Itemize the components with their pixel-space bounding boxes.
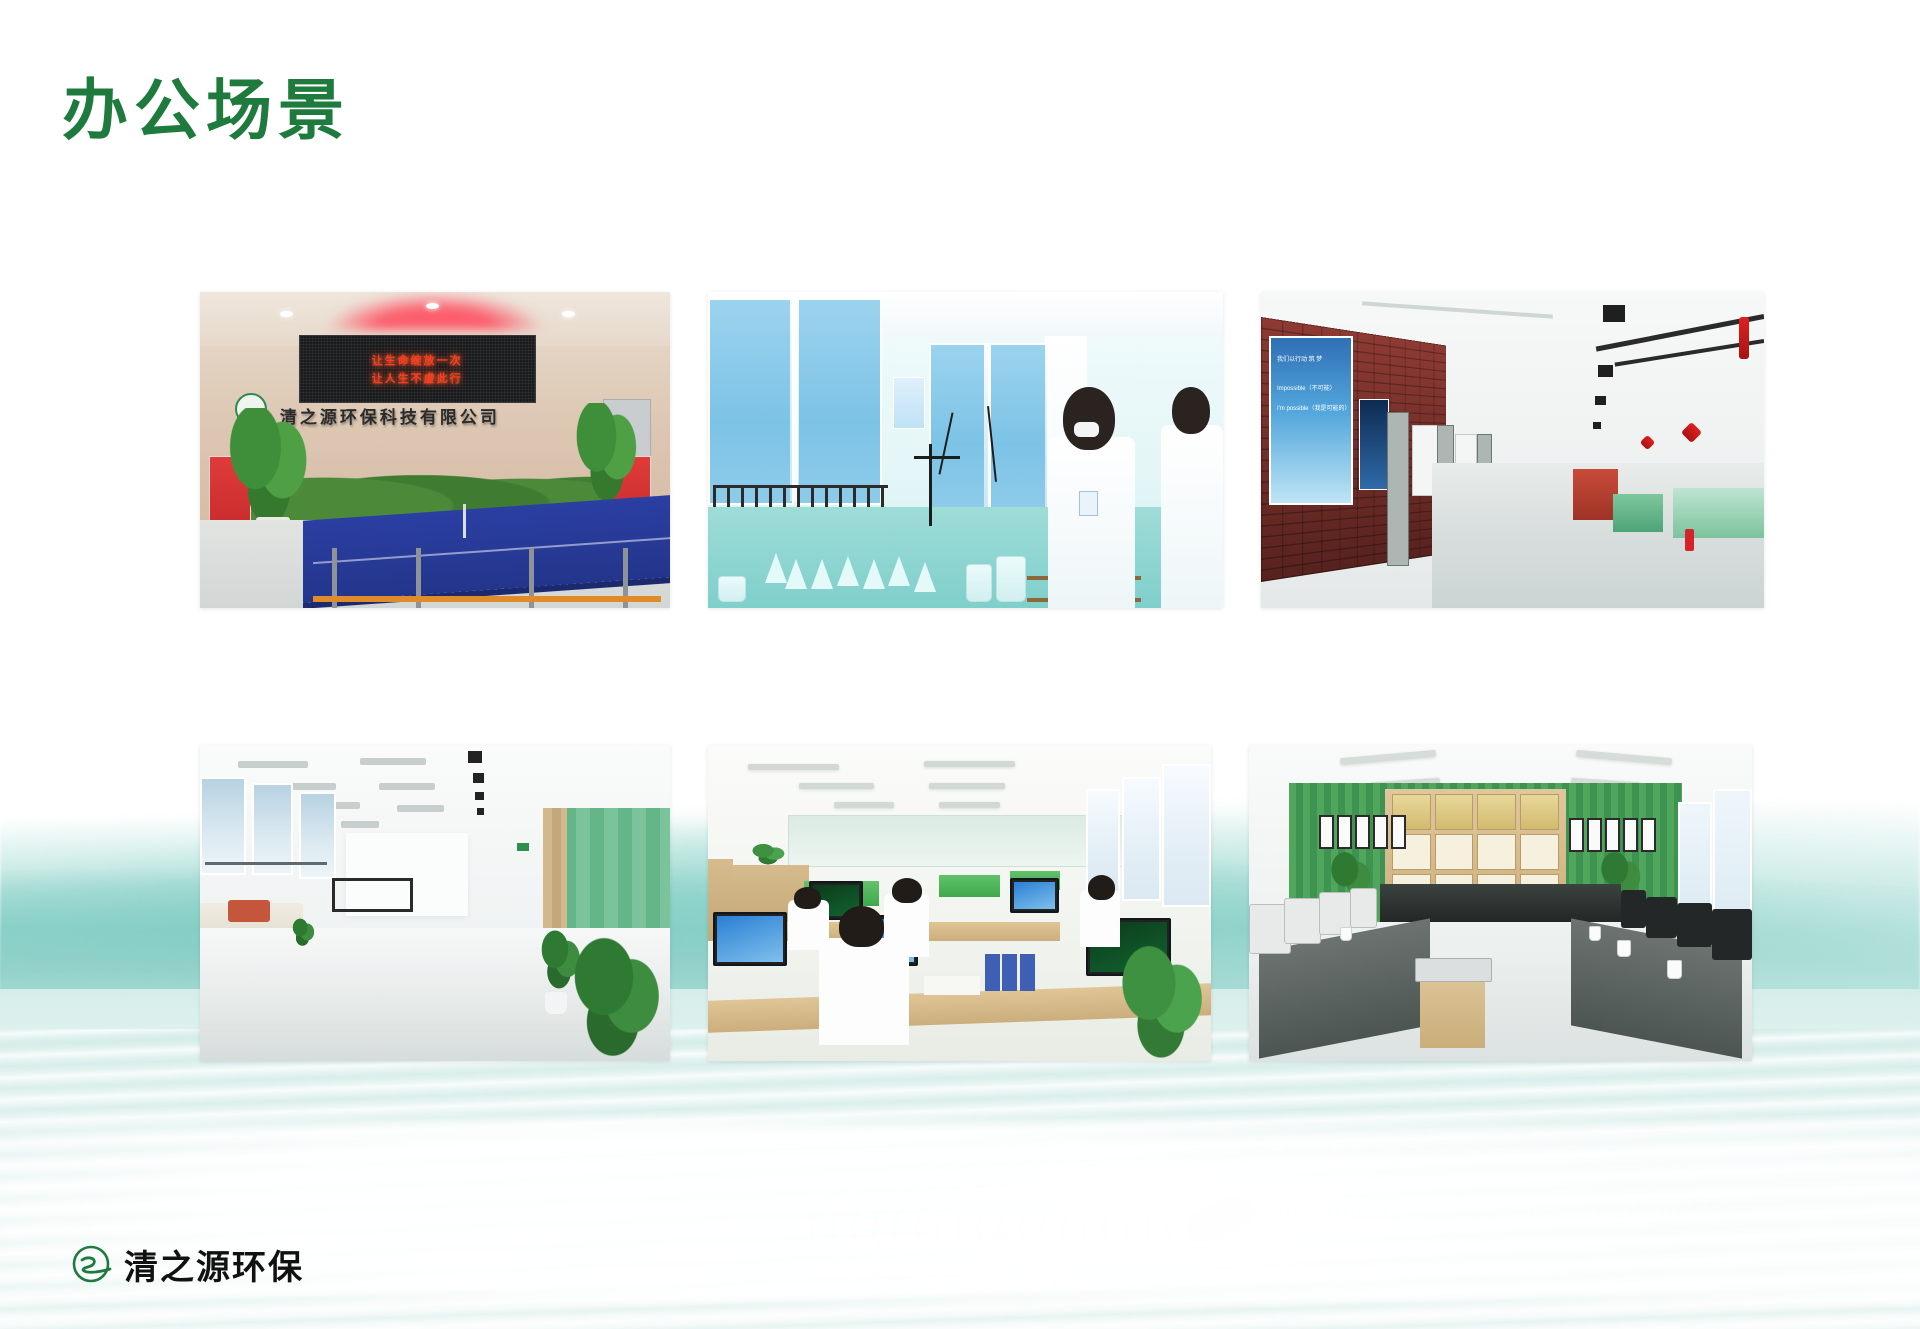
lab-notice-poster — [893, 377, 925, 429]
end-door — [1573, 469, 1618, 520]
ceiling-tube-light — [799, 783, 874, 789]
award-plaque — [1520, 794, 1559, 830]
ceiling-light-strip — [360, 758, 426, 765]
ceiling-light-strip — [379, 783, 435, 790]
conference-table-back — [1380, 884, 1621, 922]
conference-chair — [1712, 909, 1752, 960]
sofa-cushion — [228, 900, 270, 922]
ceiling-tube-light — [834, 802, 894, 808]
framed-certificates-right — [1569, 818, 1656, 852]
conference-chair — [1621, 890, 1646, 928]
tea-cup — [1340, 927, 1352, 941]
document-folder — [985, 954, 1000, 992]
photo-row-1: 让生命绽放一次 让人生不虚此行 清之源环保科技有限公司 — [200, 292, 1764, 608]
certificate — [1520, 834, 1559, 870]
photo-gallery: 让生命绽放一次 让人生不虚此行 清之源环保科技有限公司 — [200, 292, 1764, 1061]
led-line-1: 让生命绽放一次 — [372, 352, 463, 368]
tea-cup — [1617, 940, 1631, 957]
tea-cup — [1589, 926, 1601, 941]
ceiling-spotlight — [475, 792, 484, 800]
window-light-gap — [790, 298, 798, 500]
conical-flask — [811, 559, 833, 589]
conference-chair — [1350, 888, 1377, 928]
window — [1122, 777, 1161, 901]
certificate — [1435, 834, 1474, 870]
award-plaque — [1477, 794, 1516, 830]
window — [1162, 764, 1211, 907]
worker-head — [892, 878, 922, 903]
stand-clamp — [914, 456, 960, 459]
face-mask — [1074, 422, 1100, 438]
projector-stand — [1420, 979, 1485, 1049]
foreground-plant — [560, 931, 670, 1061]
framed-certificate — [1391, 815, 1406, 849]
ceiling-spotlight — [468, 751, 482, 763]
desk-partition — [939, 875, 999, 897]
computer-monitor[interactable] — [713, 912, 787, 967]
beaker — [718, 576, 746, 602]
monitor-screen — [1014, 882, 1055, 910]
company-brand-name: 清之源环保 — [124, 1240, 304, 1289]
photo-open-office[interactable]: 开放式办公区 — [708, 745, 1211, 1061]
exit-sign — [517, 843, 529, 851]
page-title: 办公场景 — [62, 78, 350, 144]
photo-office-lounge[interactable]: 办公大厅 休息区 — [200, 745, 670, 1061]
second-person-coat — [1161, 425, 1223, 608]
ceiling-tube-light — [748, 764, 839, 770]
conical-flask — [785, 559, 807, 589]
photo-lobby-pingpong[interactable]: 让生命绽放一次 让人生不虚此行 清之源环保科技有限公司 — [200, 292, 670, 608]
framed-certificate — [1605, 818, 1620, 852]
framed-certificate — [1373, 815, 1388, 849]
downlight — [426, 303, 439, 309]
photo-conference-room[interactable]: 会议室 荣誉墙 — [1249, 745, 1752, 1061]
conical-flask — [837, 556, 859, 586]
document-folder — [1020, 954, 1035, 992]
fire-extinguisher — [1685, 529, 1694, 551]
ceiling-spotlight — [1593, 422, 1601, 429]
worker-head — [1088, 875, 1116, 900]
window-blind — [929, 343, 990, 511]
framed-certificate — [1319, 815, 1334, 849]
potted-plant — [572, 403, 642, 513]
conical-flask — [765, 553, 787, 583]
led-display-sign: 让生命绽放一次 让人生不虚此行 — [299, 335, 536, 403]
footer-brand: 清之源环保 — [70, 1240, 304, 1289]
poster-line-1: Impossible（不可能） — [1277, 384, 1336, 394]
window-blind — [708, 298, 794, 504]
led-glow — [313, 292, 557, 330]
worker-head — [794, 887, 822, 909]
led-line-2: 让人生不虚此行 — [372, 370, 463, 386]
floor-rail — [313, 596, 661, 602]
side-poster — [1359, 399, 1389, 489]
tea-cup — [1667, 960, 1682, 979]
certificate — [1477, 834, 1516, 870]
award-plaque — [1435, 794, 1474, 830]
framed-certificates-left — [1319, 815, 1406, 849]
conical-flask — [914, 562, 936, 592]
photo-row-2: 办公大厅 休息区 — [200, 745, 1764, 1061]
window-guard-rail — [205, 862, 327, 865]
downlight — [562, 311, 575, 317]
lab-technician-coat — [1048, 437, 1136, 608]
framed-certificate — [1337, 815, 1352, 849]
ceiling-light-strip — [238, 761, 309, 768]
worker-head — [839, 906, 884, 947]
photo-laboratory[interactable]: 实验室 化验分析 — [708, 292, 1223, 608]
second-person-head — [1172, 387, 1211, 434]
conical-flask — [863, 559, 885, 589]
framed-certificate — [1641, 818, 1656, 852]
office-door — [1387, 412, 1409, 566]
green-cabinet — [1613, 494, 1663, 532]
ceiling-spotlight — [1595, 396, 1606, 405]
poster-line-2: I'm possible（我是可能的） — [1277, 404, 1351, 414]
motivational-poster: 我们以行动 筑 梦 Impossible（不可能） I'm possible（我… — [1269, 336, 1353, 504]
conference-chair — [1646, 897, 1676, 938]
paper-stack — [924, 976, 979, 995]
computer-monitor[interactable] — [1010, 878, 1059, 914]
ceiling-spotlight — [1603, 305, 1625, 322]
foreground-plant — [1111, 941, 1211, 1061]
reagent-bottle — [966, 564, 992, 602]
window-blind — [989, 343, 1050, 511]
chinese-knot-decoration — [1739, 317, 1749, 359]
framed-certificate — [1587, 818, 1602, 852]
window — [299, 792, 336, 878]
id-badge — [1079, 491, 1098, 516]
framed-certificate — [1623, 818, 1638, 852]
ceiling-spotlight — [1598, 365, 1613, 377]
ceiling-tube-light — [929, 783, 1004, 789]
metal-frame-table — [332, 878, 413, 912]
poster-title: 我们以行动 筑 梦 — [1277, 355, 1322, 365]
framed-certificate — [1569, 818, 1584, 852]
monitor-screen — [717, 916, 783, 963]
photo-corridor-brick[interactable]: 我们以行动 筑 梦 Impossible（不可能） I'm possible（我… — [1261, 292, 1764, 608]
ceiling-light-strip — [341, 821, 379, 828]
document-folder — [1002, 954, 1017, 992]
conference-chair — [1677, 903, 1712, 947]
downlight — [280, 311, 293, 317]
company-logo-icon — [70, 1243, 114, 1287]
ceiling-light-strip — [397, 805, 444, 812]
ceiling-spotlight — [473, 773, 484, 783]
ping-pong-net — [463, 504, 466, 538]
ceiling-tube-light — [924, 761, 1015, 767]
window — [200, 777, 246, 876]
potted-plant — [289, 917, 317, 947]
projector[interactable] — [1415, 958, 1492, 982]
window-blind — [796, 298, 882, 504]
window — [1678, 802, 1712, 920]
reagent-bottle — [996, 556, 1026, 602]
framed-certificate — [1355, 815, 1370, 849]
conical-flask — [888, 556, 910, 586]
cabinet-plant — [748, 843, 788, 865]
ceiling-tube-light — [939, 802, 999, 808]
glass-partition — [788, 815, 1130, 868]
lab-technician-head — [1063, 387, 1115, 450]
ceiling-spotlight — [477, 808, 484, 815]
conference-chair — [1284, 898, 1321, 944]
office-worker-foreground — [819, 938, 910, 1045]
